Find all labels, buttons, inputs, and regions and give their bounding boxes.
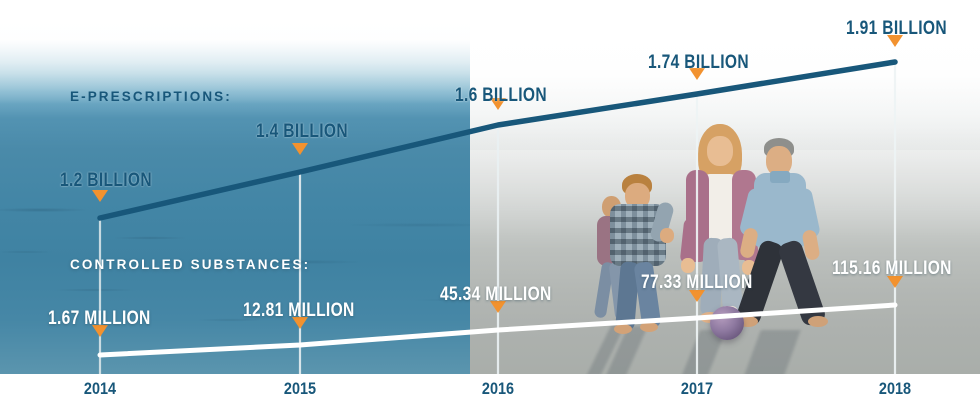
- legend-eprescriptions: E-PRESCRIPTIONS:: [70, 89, 232, 104]
- infographic-chart: E-PRESCRIPTIONS: CONTROLLED SUBSTANCES: …: [0, 0, 980, 409]
- value-label-controlled-2018: 115.16 MILLION: [832, 258, 952, 280]
- value-label-eprescriptions-2014: 1.2 BILLION: [60, 170, 152, 192]
- value-label-controlled-2014: 1.67 MILLION: [48, 308, 151, 330]
- value-label-eprescriptions-2017: 1.74 BILLION: [648, 52, 749, 74]
- value-label-eprescriptions-2016: 1.6 BILLION: [455, 85, 547, 107]
- value-label-controlled-2015: 12.81 MILLION: [243, 300, 355, 322]
- value-label-controlled-2017: 77.33 MILLION: [641, 272, 753, 294]
- axis-label-2015: 2015: [284, 379, 316, 399]
- marker-triangle-2015-top: [292, 143, 308, 155]
- value-label-controlled-2016: 45.34 MILLION: [440, 284, 552, 306]
- value-label-eprescriptions-2018: 1.91 BILLION: [846, 18, 947, 40]
- chart-vector-layer: [0, 0, 980, 409]
- axis-label-2014: 2014: [84, 379, 116, 399]
- axis-label-2016: 2016: [482, 379, 514, 399]
- axis-label-2017: 2017: [681, 379, 713, 399]
- legend-controlled-substances: CONTROLLED SUBSTANCES:: [70, 257, 310, 272]
- value-label-eprescriptions-2015: 1.4 BILLION: [256, 121, 348, 143]
- axis-label-2018: 2018: [879, 379, 911, 399]
